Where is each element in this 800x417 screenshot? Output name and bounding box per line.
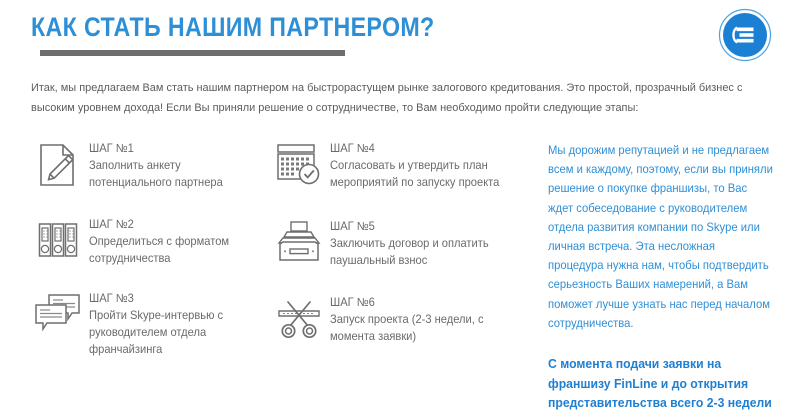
file-drawer-icon (272, 218, 326, 272)
slide-header: КАК СТАТЬ НАШИМ ПАРТНЕРОМ? (0, 0, 800, 72)
step-title: ШАГ №3 (89, 290, 264, 307)
step-description: Запуск проекта (2-3 недели, с момента за… (330, 311, 524, 345)
steps-column-middle: ШАГ №4 Согласовать и утвердить план меро… (272, 140, 532, 366)
step-description: Заключить договор и оплатить паушальный … (330, 235, 524, 269)
step-text-2: ШАГ №2 Определиться с форматом сотруднич… (85, 216, 271, 267)
right-text-column: Мы дорожим репутацией и не предлагаем вс… (548, 141, 780, 414)
slide-root: КАК СТАТЬ НАШИМ ПАРТНЕРОМ? Итак, мы пред… (0, 0, 800, 417)
intro-paragraph: Итак, мы предлагаем Вам стать нашим парт… (31, 78, 754, 118)
calendar-check-icon (272, 140, 326, 194)
right-highlight-text: С момента подачи заявки на франшизу FinL… (548, 355, 773, 414)
step-title: ШАГ №5 (330, 218, 524, 235)
scissors-ribbon-icon (272, 294, 326, 348)
step-text-6: ШАГ №6 Запуск проекта (2-3 недели, с мом… (326, 294, 532, 345)
document-pencil-icon (31, 140, 85, 194)
step-title: ШАГ №6 (330, 294, 524, 311)
step-description: Определиться с форматом сотрудничества (89, 233, 264, 267)
title-underline-rule (40, 50, 345, 56)
chat-bubbles-icon (31, 290, 85, 344)
step-item-5: ШАГ №5 Заключить договор и оплатить пауш… (272, 218, 532, 272)
step-item-3: ШАГ №3 Пройти Skype-интервью с руководит… (31, 290, 271, 358)
step-text-5: ШАГ №5 Заключить договор и оплатить пауш… (326, 218, 532, 269)
step-title: ШАГ №1 (89, 140, 264, 157)
step-item-1: ШАГ №1 Заполнить анкету потенциального п… (31, 140, 271, 194)
step-title: ШАГ №2 (89, 216, 264, 233)
finline-logo (718, 8, 772, 62)
step-item-4: ШАГ №4 Согласовать и утвердить план меро… (272, 140, 532, 194)
step-item-2: ШАГ №2 Определиться с форматом сотруднич… (31, 216, 271, 270)
step-text-3: ШАГ №3 Пройти Skype-интервью с руководит… (85, 290, 271, 358)
step-description: Пройти Skype-интервью с руководителем от… (89, 307, 264, 358)
step-text-4: ШАГ №4 Согласовать и утвердить план меро… (326, 140, 532, 191)
step-description: Согласовать и утвердить план мероприятий… (330, 157, 524, 191)
steps-column-left: ШАГ №1 Заполнить анкету потенциального п… (31, 140, 271, 376)
step-item-6: ШАГ №6 Запуск проекта (2-3 недели, с мом… (272, 294, 532, 348)
right-paragraph: Мы дорожим репутацией и не предлагаем вс… (548, 141, 773, 333)
step-description: Заполнить анкету потенциального партнера (89, 157, 264, 191)
step-text-1: ШАГ №1 Заполнить анкету потенциального п… (85, 140, 271, 191)
step-title: ШАГ №4 (330, 140, 524, 157)
page-title: КАК СТАТЬ НАШИМ ПАРТНЕРОМ? (31, 14, 435, 41)
binders-icon (31, 216, 85, 270)
